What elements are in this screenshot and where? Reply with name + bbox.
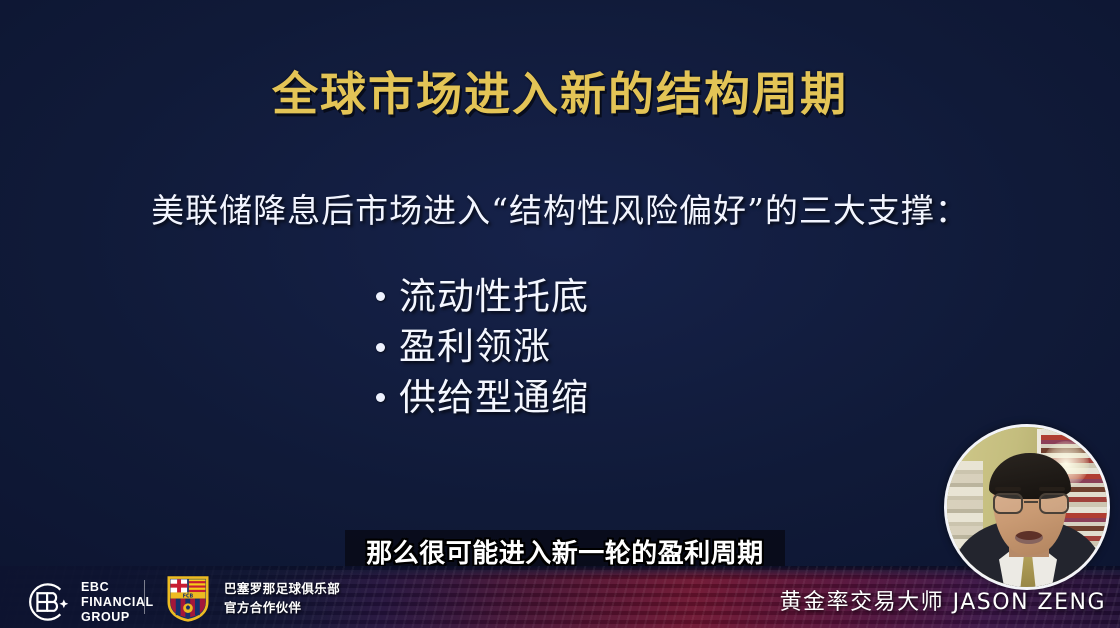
bar-divider [144, 580, 145, 614]
slide-subtitle: 美联储降息后市场进入“结构性风险偏好”的三大支撑： [0, 184, 1120, 232]
ebc-line-2: FINANCIAL [81, 595, 154, 610]
ebc-wordmark: EBC FINANCIAL GROUP [81, 580, 154, 624]
presenter-eyebrow-right [1039, 487, 1065, 491]
caption-text: 那么很可能进入新一轮的盈利周期 [366, 533, 764, 570]
bullet-dot-icon [376, 343, 385, 352]
partner-wordmark: 巴塞罗那足球俱乐部 官方合作伙伴 [224, 580, 340, 618]
partner-line-2: 官方合作伙伴 [224, 599, 340, 618]
partner-logo-group: FCB 巴塞罗那足球俱乐部 官方合作伙伴 [166, 575, 340, 623]
ebc-logo-group: EBC FINANCIAL GROUP [26, 580, 154, 624]
presenter-name: 黄金率交易大师 JASON ZENG [780, 584, 1106, 616]
partner-line-1: 巴塞罗那足球俱乐部 [224, 580, 340, 599]
glasses-lens-right [1039, 493, 1069, 514]
list-item: 盈利领涨 [376, 326, 589, 367]
bullet-label: 供给型通缩 [399, 377, 589, 418]
presenter-eyebrow-left [995, 487, 1021, 491]
presenter-webcam [944, 424, 1110, 590]
presenter-mouth [1015, 531, 1043, 544]
fcb-crest-icon: FCB [166, 575, 210, 623]
bullet-dot-icon [376, 292, 385, 301]
presentation-slide: 全球市场进入新的结构周期 美联储降息后市场进入“结构性风险偏好”的三大支撑： 流… [0, 0, 1120, 628]
ebc-line-3: GROUP [81, 610, 154, 625]
glasses-bridge [1024, 501, 1038, 503]
list-item: 流动性托底 [376, 276, 589, 317]
ebc-monogram-icon [26, 580, 70, 624]
list-item: 供给型通缩 [376, 377, 589, 418]
svg-text:FCB: FCB [183, 593, 194, 599]
bullet-dot-icon [376, 393, 385, 402]
glasses-lens-left [993, 493, 1023, 514]
glasses-icon [993, 493, 1069, 515]
bullet-list: 流动性托底 盈利领涨 供给型通缩 [376, 276, 589, 418]
ebc-line-1: EBC [81, 580, 154, 595]
slide-title: 全球市场进入新的结构周期 [0, 58, 1120, 124]
bullet-label: 盈利领涨 [399, 326, 551, 367]
bullet-label: 流动性托底 [399, 276, 589, 317]
